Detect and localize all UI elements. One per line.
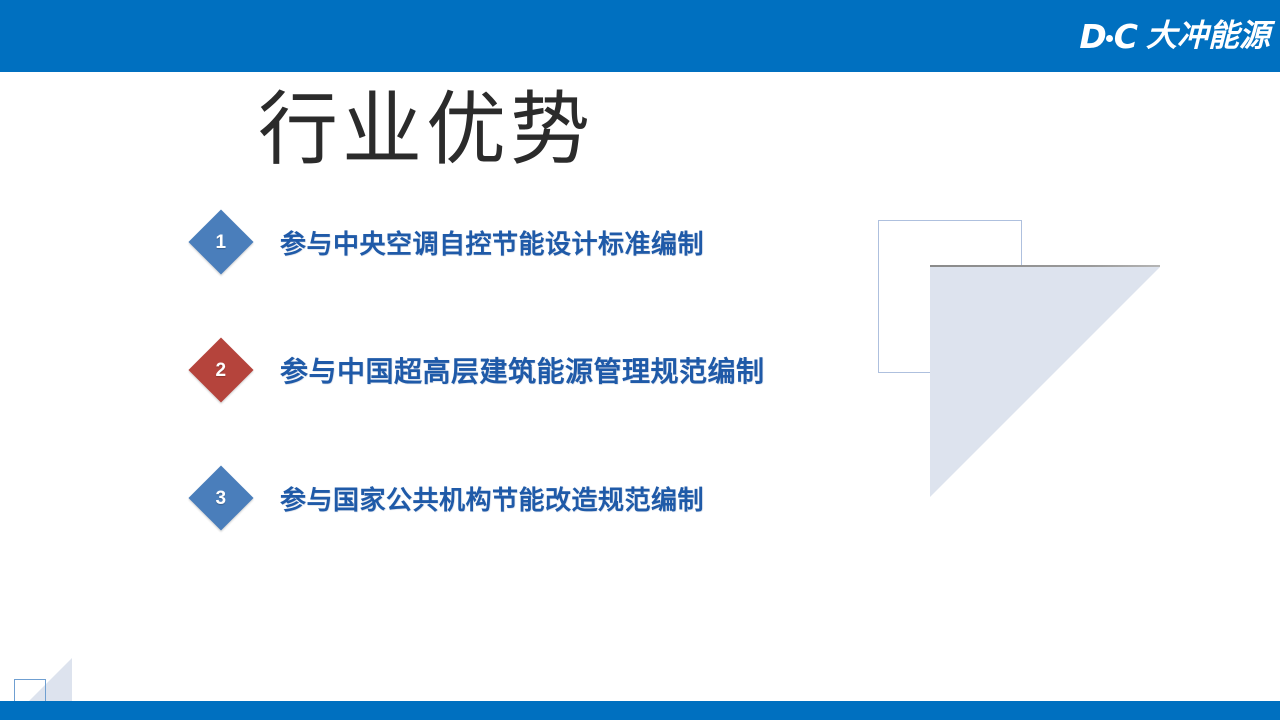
logo-letter-d: D	[1079, 20, 1105, 53]
list-item-label: 参与国家公共机构节能改造规范编制	[280, 480, 704, 517]
logo-mark-text: DC	[1079, 20, 1137, 53]
logo-letter-c: C	[1114, 20, 1137, 53]
decorative-triangle-shape	[930, 267, 1160, 497]
page-title: 行业优势	[258, 84, 594, 176]
presentation-slide: DC 大冲能源 行业优势 1 参与中央空调自控节能设计标准编制 2 参与中国超高…	[0, 0, 1280, 720]
company-logo: DC 大冲能源	[1079, 14, 1270, 58]
bullet-list: 1 参与中央空调自控节能设计标准编制 2 参与中国超高层建筑能源管理规范编制 3…	[198, 212, 838, 596]
header-bar: DC 大冲能源	[0, 0, 1280, 72]
diamond-marker-icon: 2	[188, 337, 253, 402]
list-item-label: 参与中国超高层建筑能源管理规范编制	[280, 350, 765, 390]
list-item-number: 3	[216, 488, 227, 507]
diamond-marker-icon: 1	[188, 209, 253, 274]
logo-dot-icon	[1106, 35, 1113, 42]
list-item-label: 参与中央空调自控节能设计标准编制	[280, 224, 704, 261]
logo-company-name: 大冲能源	[1146, 21, 1270, 52]
diamond-marker-icon: 3	[188, 465, 253, 530]
list-item[interactable]: 1 参与中央空调自控节能设计标准编制	[198, 212, 838, 272]
list-item-number: 1	[216, 232, 227, 251]
list-item-number: 2	[216, 360, 227, 379]
list-item[interactable]: 2 参与中国超高层建筑能源管理规范编制	[198, 340, 838, 400]
list-item[interactable]: 3 参与国家公共机构节能改造规范编制	[198, 468, 838, 528]
footer-bar	[0, 701, 1280, 720]
decorative-graphic-right	[878, 220, 1178, 510]
